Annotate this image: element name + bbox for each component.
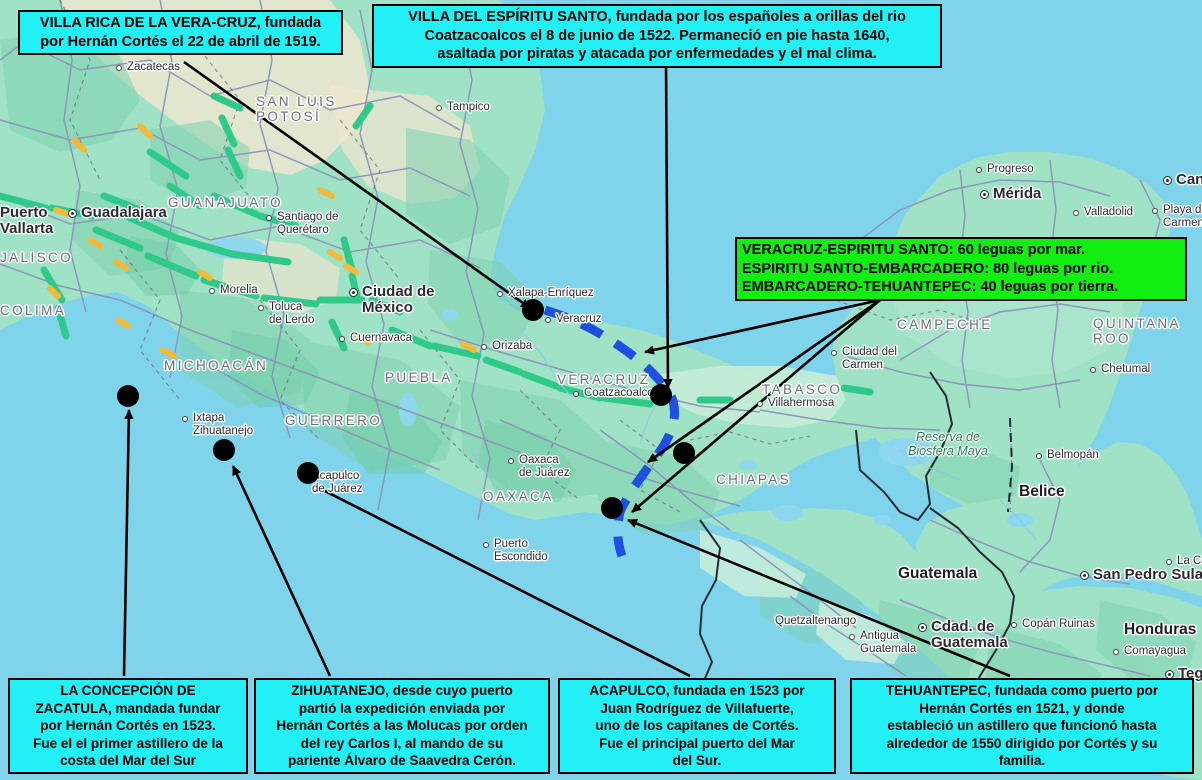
city-dot-xalapa-enriquez[interactable] bbox=[497, 291, 503, 297]
callout-line: uno de los capitanes de Cortés. bbox=[565, 717, 829, 735]
arrow-zacatula bbox=[124, 410, 129, 676]
map-canvas: ZacatecasTampicoPuertoVallartaGuadalajar… bbox=[0, 0, 1202, 780]
callout-leguas[interactable]: VERACRUZ-ESPIRITU SANTO: 60 leguas por m… bbox=[735, 237, 1187, 301]
city-dot-ciudad-del-carmen[interactable] bbox=[831, 350, 837, 356]
callout-line: ZACATULA, mandada fundar bbox=[15, 700, 241, 718]
city-dot-coatzacoalcos[interactable] bbox=[573, 391, 579, 397]
city-dot-merida[interactable] bbox=[980, 190, 989, 199]
callout-line: EMBARCADERO-TEHUANTEPEC: 40 leguas por t… bbox=[742, 278, 1180, 297]
city-dot-cancun[interactable] bbox=[1163, 176, 1172, 185]
callout-espiritu-santo[interactable]: VILLA DEL ESPÍRITU SANTO, fundada por lo… bbox=[372, 4, 942, 68]
callout-line: Hernán Cortés a las Molucas por orden bbox=[261, 717, 543, 735]
callout-line: ACAPULCO, fundada en 1523 por bbox=[565, 682, 829, 700]
city-dot-veracruz[interactable] bbox=[545, 317, 551, 323]
arrow-acapulco bbox=[315, 486, 690, 676]
callout-line: LA CONCEPCIÓN DE bbox=[15, 682, 241, 700]
city-dot-belmopan[interactable] bbox=[1036, 453, 1042, 459]
city-dot-antigua-guatemala[interactable] bbox=[849, 634, 855, 640]
callout-line: ZIHUATANEJO, desde cuyo puerto bbox=[261, 682, 543, 700]
callout-line: VERACRUZ-ESPIRITU SANTO: 60 leguas por m… bbox=[742, 241, 1180, 260]
city-dot-playa-del-carmen[interactable] bbox=[1152, 208, 1158, 214]
city-dot-cuernavaca[interactable] bbox=[339, 336, 345, 342]
marker-zacatula[interactable] bbox=[117, 385, 139, 407]
city-dot-ciudad-de-mexico[interactable] bbox=[349, 288, 358, 297]
callout-line: Fue el principal puerto del Mar bbox=[565, 735, 829, 753]
callout-villa-rica[interactable]: VILLA RICA DE LA VERA-CRUZ, fundadapor H… bbox=[18, 10, 343, 55]
city-dot-ixtapa-zihuatanejo[interactable] bbox=[182, 416, 188, 422]
city-dot-cdad-de-guatemala[interactable] bbox=[918, 623, 927, 632]
callout-tehuantepec[interactable]: TEHUANTEPEC, fundada como puerto porHern… bbox=[850, 678, 1194, 774]
callout-line: del rey Carlos I, al mando de su bbox=[261, 735, 543, 753]
arrow-espiritu-santo bbox=[666, 62, 668, 388]
city-dot-santiago-de-queretaro[interactable] bbox=[266, 215, 272, 221]
callout-line: partió la expedición enviada por bbox=[261, 700, 543, 718]
arrow-villa-rica bbox=[184, 62, 530, 308]
city-dot-puerto-escondido[interactable] bbox=[483, 542, 489, 548]
arrow-leguas-embarcadero bbox=[648, 300, 880, 462]
marker-tehuantepec[interactable] bbox=[601, 497, 623, 519]
callout-line: estableció un astillero que funcionó has… bbox=[857, 717, 1187, 735]
callout-line: Fue el el primer astillero de la bbox=[15, 735, 241, 753]
city-dot-chetumal[interactable] bbox=[1090, 367, 1096, 373]
marker-embarcadero[interactable] bbox=[673, 442, 695, 464]
arrow-tehuantepec bbox=[628, 520, 1010, 676]
city-dot-progreso[interactable] bbox=[976, 167, 982, 173]
callout-line: pariente Álvaro de Saavedra Cerón. bbox=[261, 752, 543, 770]
city-dot-comayagua[interactable] bbox=[1113, 649, 1119, 655]
callout-line: alrededor de 1550 dirigido por Cortés y … bbox=[857, 735, 1187, 753]
callout-zihuatanejo[interactable]: ZIHUATANEJO, desde cuyo puertopartió la … bbox=[254, 678, 550, 774]
city-dot-oaxaca-de-juarez[interactable] bbox=[508, 458, 514, 464]
city-dot-san-pedro-sula[interactable] bbox=[1080, 571, 1089, 580]
city-dot-valladolid[interactable] bbox=[1073, 210, 1079, 216]
callout-line: por Hernán Cortés el 22 de abril de 1519… bbox=[25, 33, 336, 52]
marker-espiritu-santo[interactable] bbox=[650, 384, 672, 406]
city-dot-zacatecas[interactable] bbox=[116, 65, 122, 71]
city-dot-tampico[interactable] bbox=[436, 105, 442, 111]
callout-zacatula[interactable]: LA CONCEPCIÓN DEZACATULA, mandada fundar… bbox=[8, 678, 248, 774]
callout-line: por Hernán Cortés en 1523. bbox=[15, 717, 241, 735]
callout-line: TEHUANTEPEC, fundada como puerto por bbox=[857, 682, 1187, 700]
callout-line: familia. bbox=[857, 752, 1187, 770]
marker-zihuatanejo[interactable] bbox=[213, 439, 235, 461]
callout-line: Juan Rodríguez de Villafuerte, bbox=[565, 700, 829, 718]
city-dot-villahermosa[interactable] bbox=[757, 401, 763, 407]
city-dot-guadalajara[interactable] bbox=[68, 209, 77, 218]
callout-line: ESPIRITU SANTO-EMBARCADERO: 80 leguas po… bbox=[742, 260, 1180, 279]
callout-line: costa del Mar del Sur bbox=[15, 752, 241, 770]
city-dot-la-ceiba[interactable] bbox=[1166, 559, 1172, 565]
callout-line: VILLA DEL ESPÍRITU SANTO, fundada por lo… bbox=[379, 8, 935, 27]
city-dot-orizaba[interactable] bbox=[481, 344, 487, 350]
leader-arrows-layer bbox=[0, 0, 1202, 780]
arrow-zihuatanejo bbox=[233, 466, 330, 676]
callout-line: del Sur. bbox=[565, 752, 829, 770]
arrow-leguas-tehuantepec bbox=[632, 300, 880, 512]
marker-acapulco[interactable] bbox=[297, 462, 319, 484]
callout-line: asaltada por piratas y atacada por enfer… bbox=[379, 45, 935, 64]
city-dot-morelia[interactable] bbox=[209, 288, 215, 294]
callout-line: VILLA RICA DE LA VERA-CRUZ, fundada bbox=[25, 14, 336, 33]
city-dot-copan-ruinas[interactable] bbox=[1011, 622, 1017, 628]
city-dot-toluca-de-lerdo[interactable] bbox=[258, 305, 264, 311]
marker-veracruz[interactable] bbox=[522, 299, 544, 321]
callout-line: Hernán Cortés en 1521, y donde bbox=[857, 700, 1187, 718]
callout-acapulco[interactable]: ACAPULCO, fundada en 1523 porJuan Rodríg… bbox=[558, 678, 836, 774]
callout-line: Coatzacoalcos el 8 de junio de 1522. Per… bbox=[379, 27, 935, 46]
